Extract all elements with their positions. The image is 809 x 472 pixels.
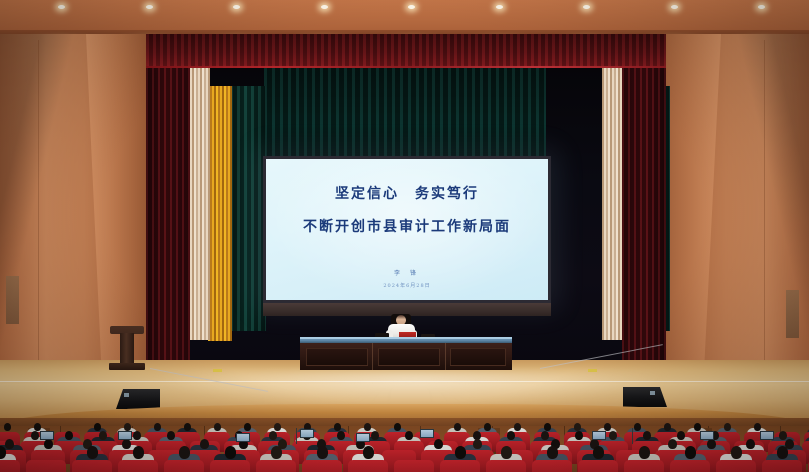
audience-member-head xyxy=(454,423,461,431)
table-seam-left xyxy=(372,343,373,370)
audience-member-head xyxy=(547,446,558,458)
audience-member-head xyxy=(434,439,443,449)
audience-seat xyxy=(624,460,664,472)
audience-member-head xyxy=(87,446,98,458)
audience-laptop xyxy=(236,433,250,442)
audience-member-head xyxy=(200,439,209,449)
audience-laptop xyxy=(760,431,774,440)
wall-seam-right xyxy=(764,40,765,400)
ceiling-downlight xyxy=(146,5,153,9)
audience-member-head xyxy=(225,446,236,458)
audience-member-head xyxy=(473,439,482,449)
audience-seat xyxy=(532,460,572,472)
slide-title-line-1: 坚定信心 务实笃行 xyxy=(335,183,479,203)
slide-title-line-2: 不断开创市县审计工作新局面 xyxy=(303,216,511,236)
table-panel-center xyxy=(378,348,440,366)
slide-date: 2024年6月28日 xyxy=(383,282,430,289)
conference-table-highlight xyxy=(300,337,512,339)
audience-member-head xyxy=(31,431,39,440)
audience-member-head xyxy=(167,431,175,440)
audience-member-head xyxy=(274,423,281,431)
audience-member-head xyxy=(746,439,755,449)
projection-screen-surface: 坚定信心 务实笃行 不断开创市县审计工作新局面 李 锋 2024年6月28日 xyxy=(266,159,548,300)
audience-member-head xyxy=(99,431,107,440)
audience-laptop xyxy=(356,433,370,442)
curtain-gold-left xyxy=(208,86,232,341)
audience-member-head xyxy=(779,431,787,440)
audience-member-head xyxy=(334,423,341,431)
stage-monitor-right xyxy=(623,387,667,407)
audience-member-head xyxy=(707,439,716,449)
stage-monitor-left xyxy=(116,389,160,409)
audience-laptop xyxy=(700,431,714,440)
audience-member-head xyxy=(65,431,73,440)
audience-seat xyxy=(26,460,66,472)
audience-member-head xyxy=(5,439,14,449)
audience-member-head xyxy=(214,423,221,431)
audience-member-head xyxy=(643,431,651,440)
table-panel-right xyxy=(450,348,506,366)
audience-member-head xyxy=(317,446,328,458)
audience-seat xyxy=(302,460,342,472)
audience-member-head xyxy=(133,431,141,440)
audience-member-head xyxy=(133,446,144,458)
audience-member-head xyxy=(575,431,583,440)
audience-member-head xyxy=(455,446,466,458)
slide-content: 坚定信心 务实笃行 不断开创市县审计工作新局面 李 锋 2024年6月28日 xyxy=(266,159,548,289)
audience-member-head xyxy=(668,439,677,449)
audience-member-head xyxy=(179,446,190,458)
table-panel-left xyxy=(306,348,368,366)
audience-laptop xyxy=(420,429,434,438)
projection-screen: 坚定信心 务实笃行 不断开创市县审计工作新局面 李 锋 2024年6月28日 xyxy=(263,156,551,303)
valance-curtain xyxy=(146,34,666,68)
audience-member-head xyxy=(94,423,101,431)
lectern-stem xyxy=(120,333,134,365)
audience-member-head xyxy=(677,431,685,440)
audience-member-head xyxy=(34,423,41,431)
audience-member-head xyxy=(44,439,53,449)
curtain-maroon-right xyxy=(622,68,666,360)
audience-laptop xyxy=(592,431,606,440)
audience-member-head xyxy=(124,423,131,431)
wall-plaque-left xyxy=(6,276,19,324)
audience-member-head xyxy=(371,431,379,440)
audience-seat xyxy=(486,460,526,472)
audience-seat xyxy=(716,460,756,472)
audience-member-head xyxy=(609,431,617,440)
audience-member-head xyxy=(184,423,191,431)
audience-member-head xyxy=(544,423,551,431)
audience-member-head xyxy=(574,423,581,431)
audience-member-head xyxy=(405,431,413,440)
auditorium-photo: 坚定信心 务实笃行 不断开创市县审计工作新局面 李 锋 2024年6月28日 xyxy=(0,0,809,472)
audience-laptop xyxy=(300,429,314,438)
stage-floor-line xyxy=(0,381,809,382)
audience-member-head xyxy=(484,423,491,431)
stage-monitor-right-led xyxy=(650,391,655,395)
audience-member-head xyxy=(269,431,277,440)
audience-seat xyxy=(578,460,618,472)
audience-seat xyxy=(210,460,250,472)
audience-member-head xyxy=(244,423,251,431)
audience-laptop xyxy=(118,431,132,440)
audience-member-head xyxy=(507,431,515,440)
audience-member-head xyxy=(541,431,549,440)
audience-member-head xyxy=(685,446,696,458)
audience-member-head xyxy=(514,423,521,431)
audience-member-head xyxy=(501,446,512,458)
audience-member-head xyxy=(271,446,282,458)
audience-seat xyxy=(762,460,802,472)
wall-seam-left xyxy=(38,40,39,400)
wall-plaque-right xyxy=(786,290,799,338)
audience-seat xyxy=(72,460,112,472)
stage-floor-marker-right xyxy=(588,369,597,372)
audience-seat xyxy=(118,460,158,472)
audience-member-head xyxy=(154,423,161,431)
ceiling-downlight xyxy=(58,5,65,9)
ceiling-downlight xyxy=(758,5,765,9)
audience-member-head xyxy=(364,423,371,431)
curtain-teal-center xyxy=(264,68,546,164)
audience-member-head xyxy=(754,423,761,431)
stage-floor-sheen xyxy=(150,372,670,408)
audience-seat xyxy=(394,460,434,472)
ceiling-downlight xyxy=(321,5,328,9)
audience-member-head xyxy=(634,423,641,431)
stage-monitor-left-led xyxy=(124,393,129,397)
audience-member-head xyxy=(777,446,788,458)
audience-member-head xyxy=(0,446,6,458)
table-seam-right xyxy=(445,343,446,370)
ceiling-downlight xyxy=(583,5,590,9)
audience-seat xyxy=(348,460,388,472)
lectern-base xyxy=(109,363,145,370)
audience-member-head xyxy=(639,446,650,458)
audience-laptop xyxy=(40,431,54,440)
audience-seat xyxy=(0,460,20,472)
audience-member-head xyxy=(664,423,671,431)
curtain-teal-left xyxy=(230,86,266,331)
audience-seat xyxy=(670,460,710,472)
audience-member-head xyxy=(4,423,11,431)
ceiling-downlight xyxy=(408,5,415,9)
curtain-maroon-left xyxy=(146,68,190,360)
slide-author: 李 锋 xyxy=(394,268,420,277)
audience-member-head xyxy=(363,446,374,458)
audience-microphone-stand xyxy=(632,428,633,444)
audience-member-head xyxy=(694,423,701,431)
stage-floor-marker-left xyxy=(213,369,222,372)
audience-member-head xyxy=(337,431,345,440)
audience-microphone-stand xyxy=(296,428,297,444)
audience-member-head xyxy=(593,446,604,458)
audience-seat xyxy=(164,460,204,472)
ceiling-downlight xyxy=(233,5,240,9)
audience-member-head xyxy=(604,423,611,431)
ceiling-downlight xyxy=(496,5,503,9)
audience-seat xyxy=(440,460,480,472)
audience-seat xyxy=(256,460,296,472)
ceiling xyxy=(0,0,809,34)
audience-member-head xyxy=(731,446,742,458)
audience-member-head xyxy=(122,439,131,449)
audience-member-head xyxy=(724,423,731,431)
ceiling-downlight xyxy=(671,5,678,9)
audience-member-head xyxy=(394,423,401,431)
